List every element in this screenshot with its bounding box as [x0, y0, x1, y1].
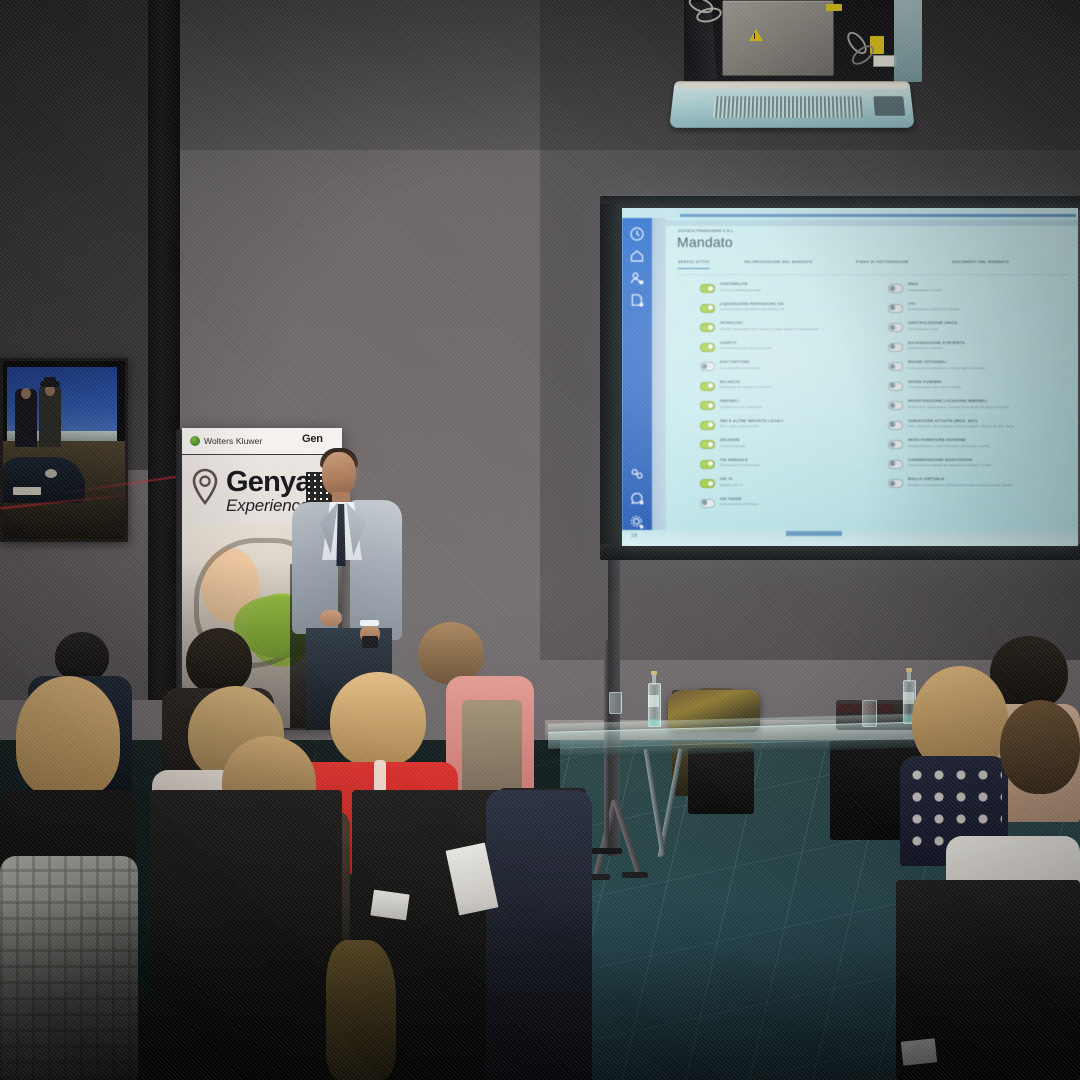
service-description: Comunicazione dati fatture [720, 366, 761, 370]
electrical-box [722, 0, 834, 76]
app-title-bar-accent [680, 214, 1076, 217]
services-column-left: CONTABILITATenuta contabilita generaleLI… [700, 282, 880, 516]
service-description: Conservazione digitale dei documenti con… [908, 463, 991, 467]
service-row[interactable]: INVIO FORNITURE ESTERNEPredisposizione e… [888, 438, 1078, 458]
service-row[interactable]: CESPITITenuta libro cespiti ammortizzabi… [700, 341, 880, 361]
warning-tag [826, 4, 842, 11]
poster-figure-head [21, 388, 31, 399]
service-row[interactable]: BOLLO VIRTUALEModello di dichiarazione d… [888, 477, 1078, 497]
service-toggle[interactable] [700, 440, 715, 449]
service-toggle[interactable] [700, 284, 715, 293]
service-name: LIQUIDAZIONI PERIODICHE IVA [720, 302, 784, 306]
audience-head [16, 676, 120, 798]
service-description: Elenchi riepilogativi delle cessioni e d… [720, 327, 819, 331]
service-description: Dichiarazione d'intento [908, 346, 943, 350]
framed-film-poster [0, 358, 128, 542]
support-chat-icon[interactable] [629, 490, 645, 506]
toggle-knob [890, 461, 895, 466]
service-name: INTRASTAT [720, 321, 743, 325]
service-name: IVA TASSE [720, 497, 741, 501]
service-description: IMU e altre imposte locali [720, 424, 759, 428]
toggle-knob [890, 364, 895, 369]
microphone-stand-foot [588, 848, 622, 854]
presentation-room-photo: SOCIETA FINANZIARIE S.R.L. Mandato SERVI… [0, 0, 1080, 1080]
tab-bar-underline [678, 274, 1068, 275]
toggle-knob [890, 286, 895, 291]
service-row[interactable]: INTRASTATElenchi riepilogativi delle ces… [700, 321, 880, 341]
ac-front-edge [684, 83, 909, 89]
service-row[interactable]: 770Dichiarazione sostituto di imposta [888, 302, 1078, 322]
toggle-knob [890, 344, 895, 349]
service-toggle[interactable] [700, 323, 715, 332]
service-description: Predisposizione e invio telematico di fo… [908, 444, 990, 448]
service-name: IVA 74 [720, 477, 733, 481]
air-conditioner-unit [669, 81, 914, 128]
location-pin-icon [190, 468, 220, 506]
service-row[interactable]: IVA TASSEComunicazione IVA Tasse [700, 497, 880, 517]
service-description: Dichiarazione sostituto di imposta [908, 307, 959, 311]
bottle-label [648, 695, 659, 707]
service-row[interactable]: DELEGHEGestione deleghe [700, 438, 880, 458]
service-description: Tenuta libro cespiti ammortizzabili [720, 346, 772, 350]
audience-head [330, 672, 426, 768]
audience-head [1000, 700, 1080, 794]
audience-head [55, 632, 109, 682]
service-name: CONTABILITA [720, 282, 748, 286]
tab-documenti-mandato[interactable]: DOCUMENTI DEL MANDATO [952, 260, 1009, 264]
service-description: Comunicazione IVA Tasse [720, 502, 759, 506]
projection-screen: SOCIETA FINANZIARIE S.R.L. Mandato SERVI… [596, 196, 1080, 562]
toggle-knob [890, 325, 895, 330]
service-row[interactable]: DICHIARAZIONE D'INTENTODichiarazione d'i… [888, 341, 1078, 361]
service-name: SPESE FUNEBRI [908, 380, 942, 384]
service-row[interactable]: INAILAutoliquidazione INAIL [888, 282, 1078, 302]
presentation-clicker [362, 636, 378, 648]
service-toggle[interactable] [888, 401, 903, 410]
ceiling-equipment-rig [666, 0, 918, 132]
service-name: BILANCIO [720, 380, 740, 384]
page-title: Mandato [677, 234, 733, 250]
drinking-glass [609, 692, 622, 714]
content-header-strip [666, 220, 1078, 226]
service-description: Richiesta di registrazione contratti di … [908, 405, 1009, 409]
tripod-foot [622, 872, 648, 878]
toggle-knob [890, 383, 895, 388]
service-name: REGIMI OPZIONALI [908, 360, 947, 364]
service-toggle[interactable] [888, 284, 903, 293]
service-name: VARIAZIONE ATTIVITA (MOD. AA7) [908, 419, 978, 423]
ac-grille [713, 96, 863, 117]
service-toggle[interactable] [888, 479, 903, 488]
audience-head [186, 628, 252, 694]
service-toggle[interactable] [888, 382, 903, 391]
service-description: Gestione terreni e fabbricati [720, 405, 762, 409]
toggle-knob [708, 286, 713, 291]
toggle-knob [890, 305, 895, 310]
tools-icon[interactable] [629, 466, 645, 482]
service-row[interactable]: REGIMI OPZIONALIComunicazione adesione o… [888, 360, 1078, 380]
service-row[interactable]: CONTABILITATenuta contabilita generale [700, 282, 880, 302]
slide-number: 18 [631, 533, 638, 539]
service-toggle[interactable] [888, 343, 903, 352]
tab-valorizzazione-mandato[interactable]: VALORIZZAZIONE DEL MANDATO [744, 260, 813, 264]
toggle-knob [708, 442, 713, 447]
toggle-knob [708, 461, 713, 466]
tab-piano-fatturazione[interactable]: PIANO DI FATTURAZIONE [856, 260, 909, 264]
service-toggle[interactable] [888, 421, 903, 430]
high-voltage-warning-icon [749, 29, 763, 41]
service-description: Autoliquidazione INAIL [908, 288, 943, 292]
toggle-knob [890, 403, 895, 408]
app-sidebar[interactable] [622, 218, 652, 546]
toggle-knob [708, 422, 713, 427]
service-name: CERTIFICAZIONE UNICA [908, 321, 958, 325]
chair-seat [688, 748, 754, 814]
app-bottom-bar [622, 530, 1078, 546]
service-description: Comunicazione adesione o revoca regimi o… [908, 366, 985, 370]
contacts-icon[interactable] [629, 270, 645, 286]
bottle-cap [906, 668, 912, 672]
drinking-glass [862, 700, 877, 727]
service-description: Comunicazione delle spese funebri [908, 385, 961, 389]
breadcrumb: SOCIETA FINANZIARIE S.R.L. [678, 229, 735, 233]
service-row[interactable]: IMMOBILIGestione terreni e fabbricati [700, 399, 880, 419]
service-row[interactable]: SPESE FUNEBRIComunicazione delle spese f… [888, 380, 1078, 400]
audience-bag [326, 940, 396, 1080]
toggle-knob [702, 500, 707, 505]
service-toggle[interactable] [700, 304, 715, 313]
service-row[interactable]: VARIAZIONE ATTIVITA (MOD. AA7)Invio vari… [888, 419, 1078, 439]
service-row[interactable]: IVA 74Modello IVA 74 [700, 477, 880, 497]
service-toggle[interactable] [888, 460, 903, 469]
projected-slide: SOCIETA FINANZIARIE S.R.L. Mandato SERVI… [622, 208, 1078, 546]
tab-bar[interactable]: SERVIZI ATTIVI VALORIZZAZIONE DEL MANDAT… [678, 260, 1068, 272]
sidebar-divider [652, 218, 666, 546]
service-toggle[interactable] [700, 343, 715, 352]
home-icon[interactable] [629, 248, 645, 264]
handout-paper [901, 1038, 937, 1065]
service-name: DATI FATTURE [720, 360, 750, 364]
service-name: IMU E ALTRE IMPOSTE LOCALI [720, 419, 783, 423]
service-row[interactable]: LIQUIDAZIONI PERIODICHE IVAComunicazione… [700, 302, 880, 322]
bottle-label [903, 692, 914, 704]
toggle-knob [708, 344, 713, 349]
service-description: Tenuta contabilita generale [720, 288, 761, 292]
gear-icon[interactable] [629, 514, 645, 530]
service-description: Modello IVA 74 [720, 483, 743, 487]
service-toggle[interactable] [888, 362, 903, 371]
poster-license-plate [13, 487, 41, 495]
tab-servizi-attivi[interactable]: SERVIZI ATTIVI [678, 260, 710, 264]
presenter-ear [354, 468, 361, 479]
service-toggle[interactable] [888, 323, 903, 332]
wolters-kluwer-logo-icon [190, 436, 200, 446]
service-name: INAIL [908, 282, 919, 286]
service-name: IVA ANNUALE [720, 458, 748, 462]
service-description: Modello di dichiarazione dell'imposta di… [908, 483, 1013, 487]
poster-headlight [45, 469, 57, 478]
service-name: DELEGHE [720, 438, 740, 442]
service-row[interactable]: CONSERVAZIONE SOSTITUTIVAConservazione d… [888, 458, 1078, 478]
service-row[interactable]: CERTIFICAZIONE UNICACertificazione unica [888, 321, 1078, 341]
service-row[interactable]: BILANCIORedazione del bilancio di eserci… [700, 380, 880, 400]
service-row[interactable]: IMU E ALTRE IMPOSTE LOCALIIMU e altre im… [700, 419, 880, 439]
presenter-hand [320, 610, 342, 626]
service-name: BOLLO VIRTUALE [908, 477, 945, 481]
service-toggle[interactable] [700, 460, 715, 469]
genya-application-ui: SOCIETA FINANZIARIE S.R.L. Mandato SERVI… [622, 208, 1078, 546]
app-content-area: SOCIETA FINANZIARIE S.R.L. Mandato SERVI… [666, 220, 1078, 536]
bottle-cap [651, 671, 657, 675]
service-name: IMMOBILI [720, 399, 739, 403]
banner-brand-name: Wolters Kluwer [204, 436, 262, 446]
service-name: CESPITI [720, 341, 736, 345]
plaid-pattern [0, 856, 138, 1080]
service-toggle[interactable] [700, 499, 715, 508]
presenter-head [322, 452, 356, 496]
service-description: Certificazione unica [908, 327, 938, 331]
toggle-knob [890, 422, 895, 427]
service-description: Redazione del bilancio di esercizio [720, 385, 773, 389]
documents-icon[interactable] [629, 292, 645, 308]
handout-paper [370, 890, 409, 921]
poster-car [0, 457, 85, 503]
rig-side-panel [894, 0, 922, 82]
service-toggle[interactable] [700, 362, 715, 371]
service-row[interactable]: IVA ANNUALEDichiarazione IVA annuale [700, 458, 880, 478]
chair [150, 790, 342, 1080]
toggle-knob [708, 403, 713, 408]
service-description: Gestione deleghe [720, 444, 747, 448]
toggle-knob [708, 325, 713, 330]
poster-hat [40, 381, 60, 387]
service-description: Invio variazione dati anagrafici attivit… [908, 424, 1014, 428]
screen-frame-bottom [600, 544, 1080, 560]
service-toggle[interactable] [700, 421, 715, 430]
service-name: INVIO FORNITURE ESTERNE [908, 438, 966, 442]
toggle-knob [890, 442, 895, 447]
service-name: DICHIARAZIONE D'INTENTO [908, 341, 965, 345]
service-description: Dichiarazione IVA annuale [720, 463, 760, 467]
service-toggle[interactable] [700, 401, 715, 410]
bottom-bar-accent [786, 531, 842, 536]
service-name: 770 [908, 302, 915, 306]
services-column-right: INAILAutoliquidazione INAIL770Dichiarazi… [888, 282, 1078, 497]
toggle-knob [702, 364, 707, 369]
audience-torso [486, 790, 592, 1080]
audience-head [418, 622, 484, 684]
service-toggle[interactable] [700, 382, 715, 391]
service-row[interactable]: REGISTRAZIONE LOCAZIONI IMMOBILIRichiest… [888, 399, 1078, 419]
service-toggle[interactable] [700, 479, 715, 488]
clock-history-icon[interactable] [629, 226, 645, 242]
toggle-knob [708, 481, 713, 486]
service-row[interactable]: DATI FATTUREComunicazione dati fatture [700, 360, 880, 380]
service-name: CONSERVAZIONE SOSTITUTIVA [908, 458, 972, 462]
toggle-knob [890, 481, 895, 486]
screen-frame-left [600, 204, 622, 552]
service-name: REGISTRAZIONE LOCAZIONI IMMOBILI [908, 399, 987, 403]
service-toggle[interactable] [888, 304, 903, 313]
service-description: Comunicazione liquidazioni periodiche IV… [720, 307, 784, 311]
bottle-base [648, 719, 660, 726]
toggle-knob [708, 383, 713, 388]
ac-side-slot [873, 96, 905, 115]
service-toggle[interactable] [888, 440, 903, 449]
toggle-knob [708, 305, 713, 310]
